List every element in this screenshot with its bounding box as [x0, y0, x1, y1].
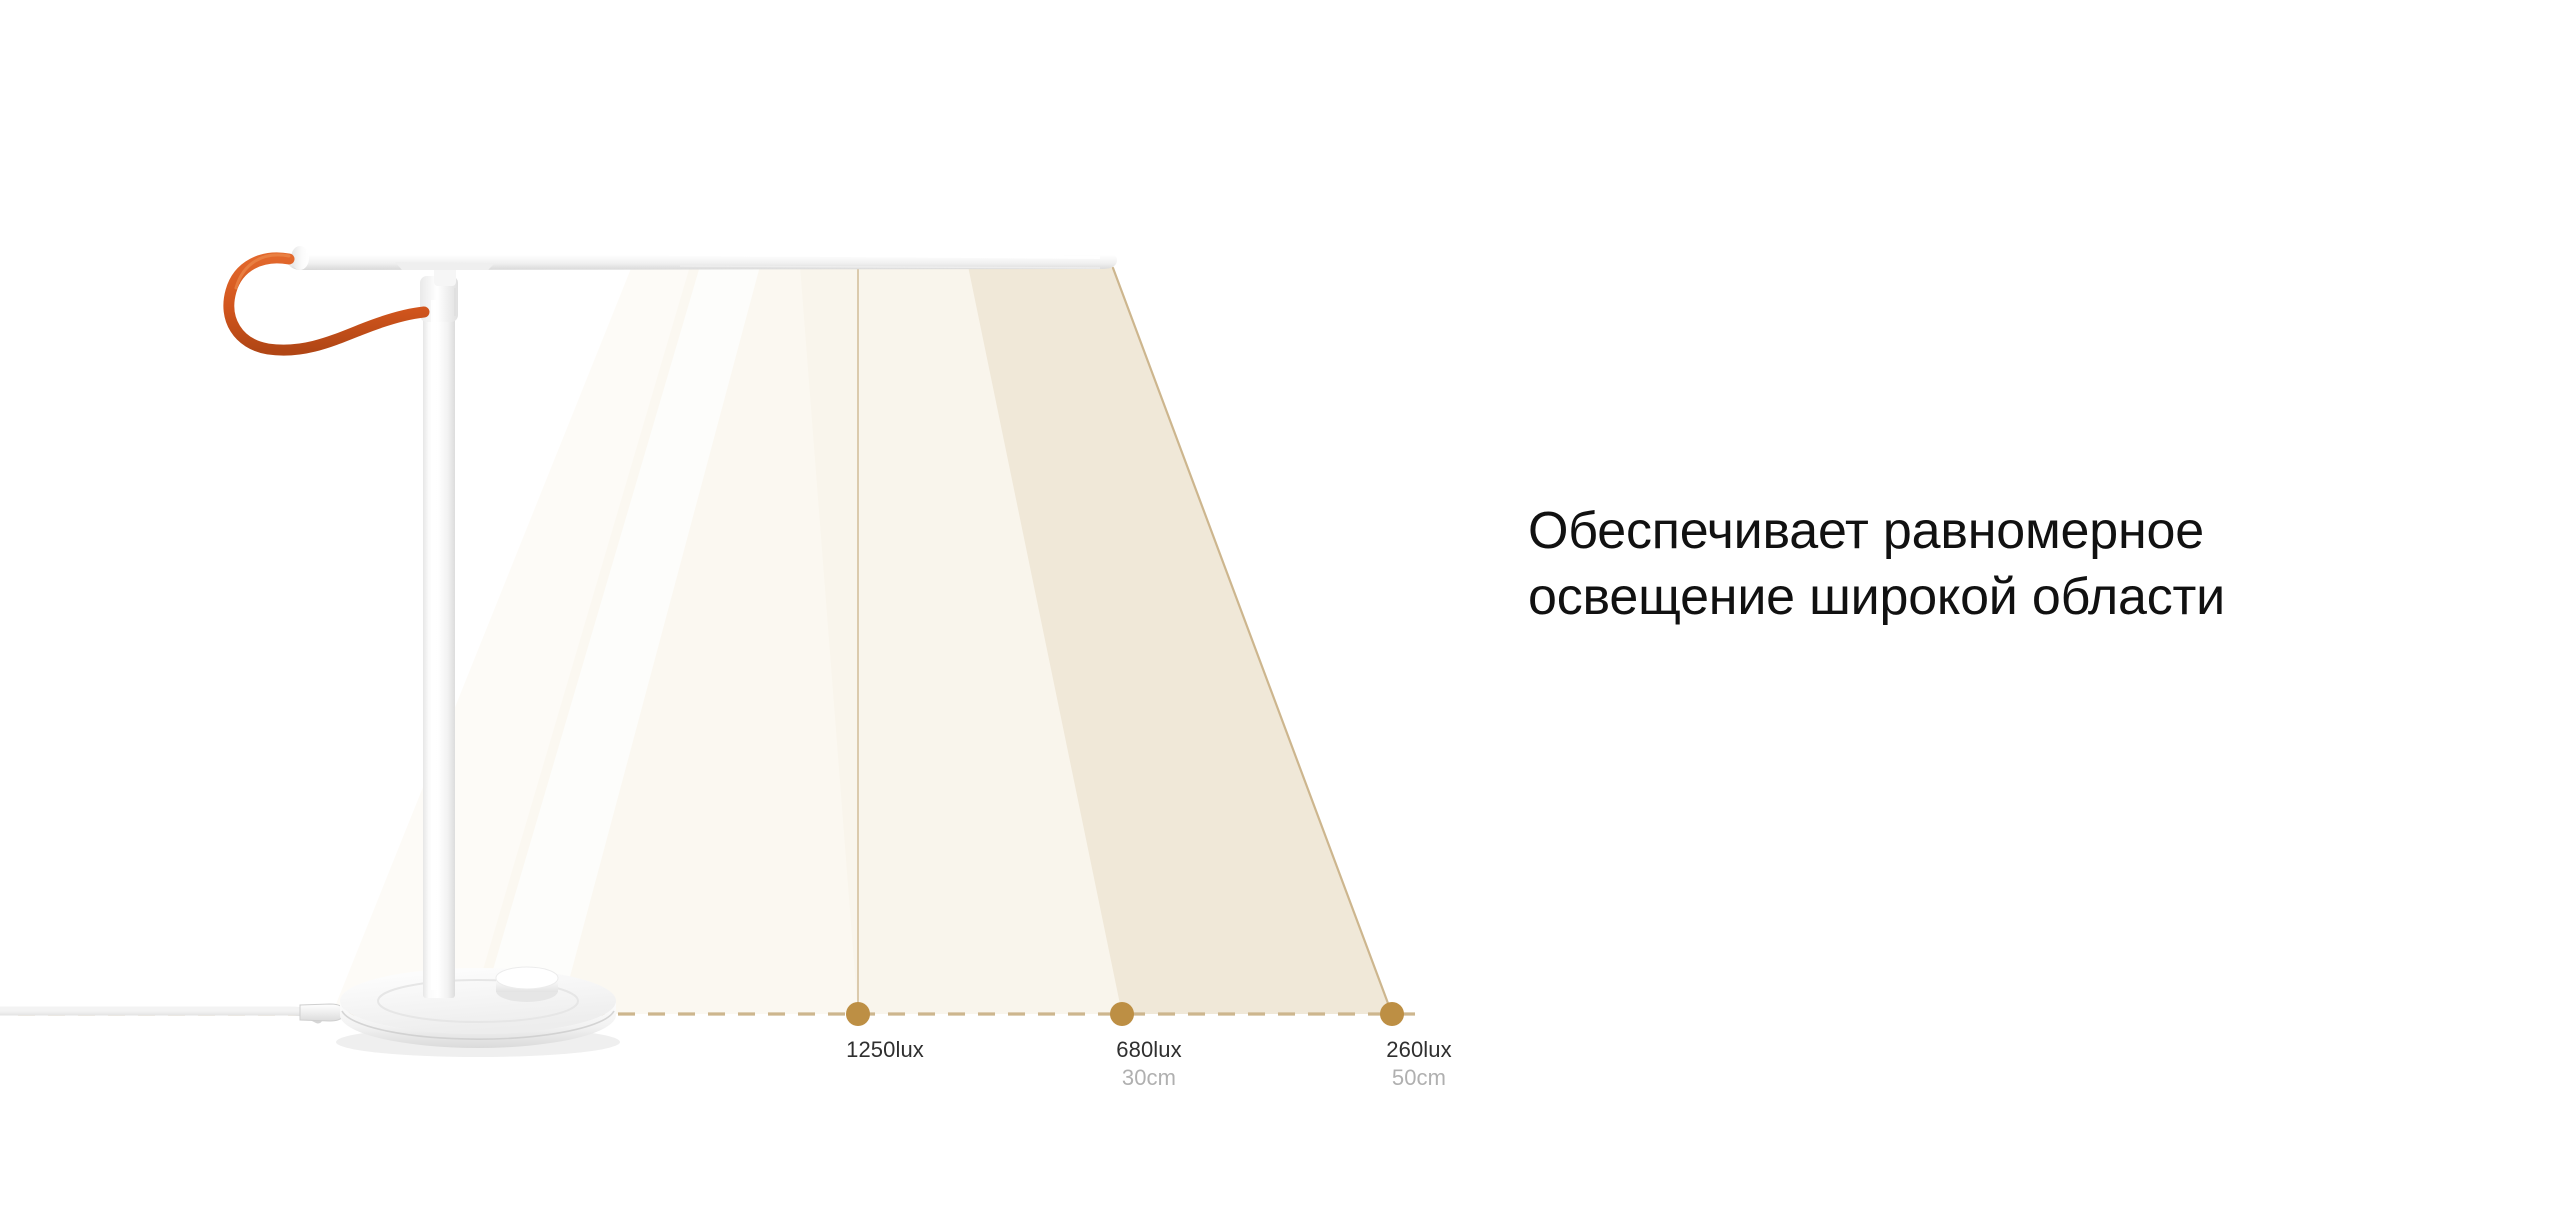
power-plug [300, 1004, 344, 1021]
measurement-marker-dot[interactable] [1380, 1002, 1404, 1026]
lamp-head-mount-plate [395, 262, 495, 270]
base-knob-top[interactable] [496, 967, 558, 989]
lamp-post [423, 282, 455, 998]
illustration-canvas: 1250lux 680lux 30cm 260lux 50cm Обеспечи… [0, 0, 2558, 1214]
measurement-marker-dot[interactable] [1110, 1002, 1134, 1026]
light-cone-group [332, 266, 1392, 1014]
headline-line-1: Обеспечивает равномерное [1528, 498, 2468, 564]
power-cord [0, 1011, 318, 1019]
base-top-face [340, 968, 616, 1034]
lamp-head-group [287, 246, 1117, 270]
measurement-marker-dot[interactable] [846, 1002, 870, 1026]
power-cord-group [0, 1004, 344, 1021]
lamp-base-group [336, 967, 620, 1057]
headline: Обеспечивает равномерное освещение широк… [1528, 498, 2468, 630]
headline-line-2: освещение широкой области [1528, 564, 2468, 630]
lamp-post-group [420, 262, 458, 998]
orange-cable [229, 258, 424, 350]
lamp-post-highlight [431, 300, 436, 990]
